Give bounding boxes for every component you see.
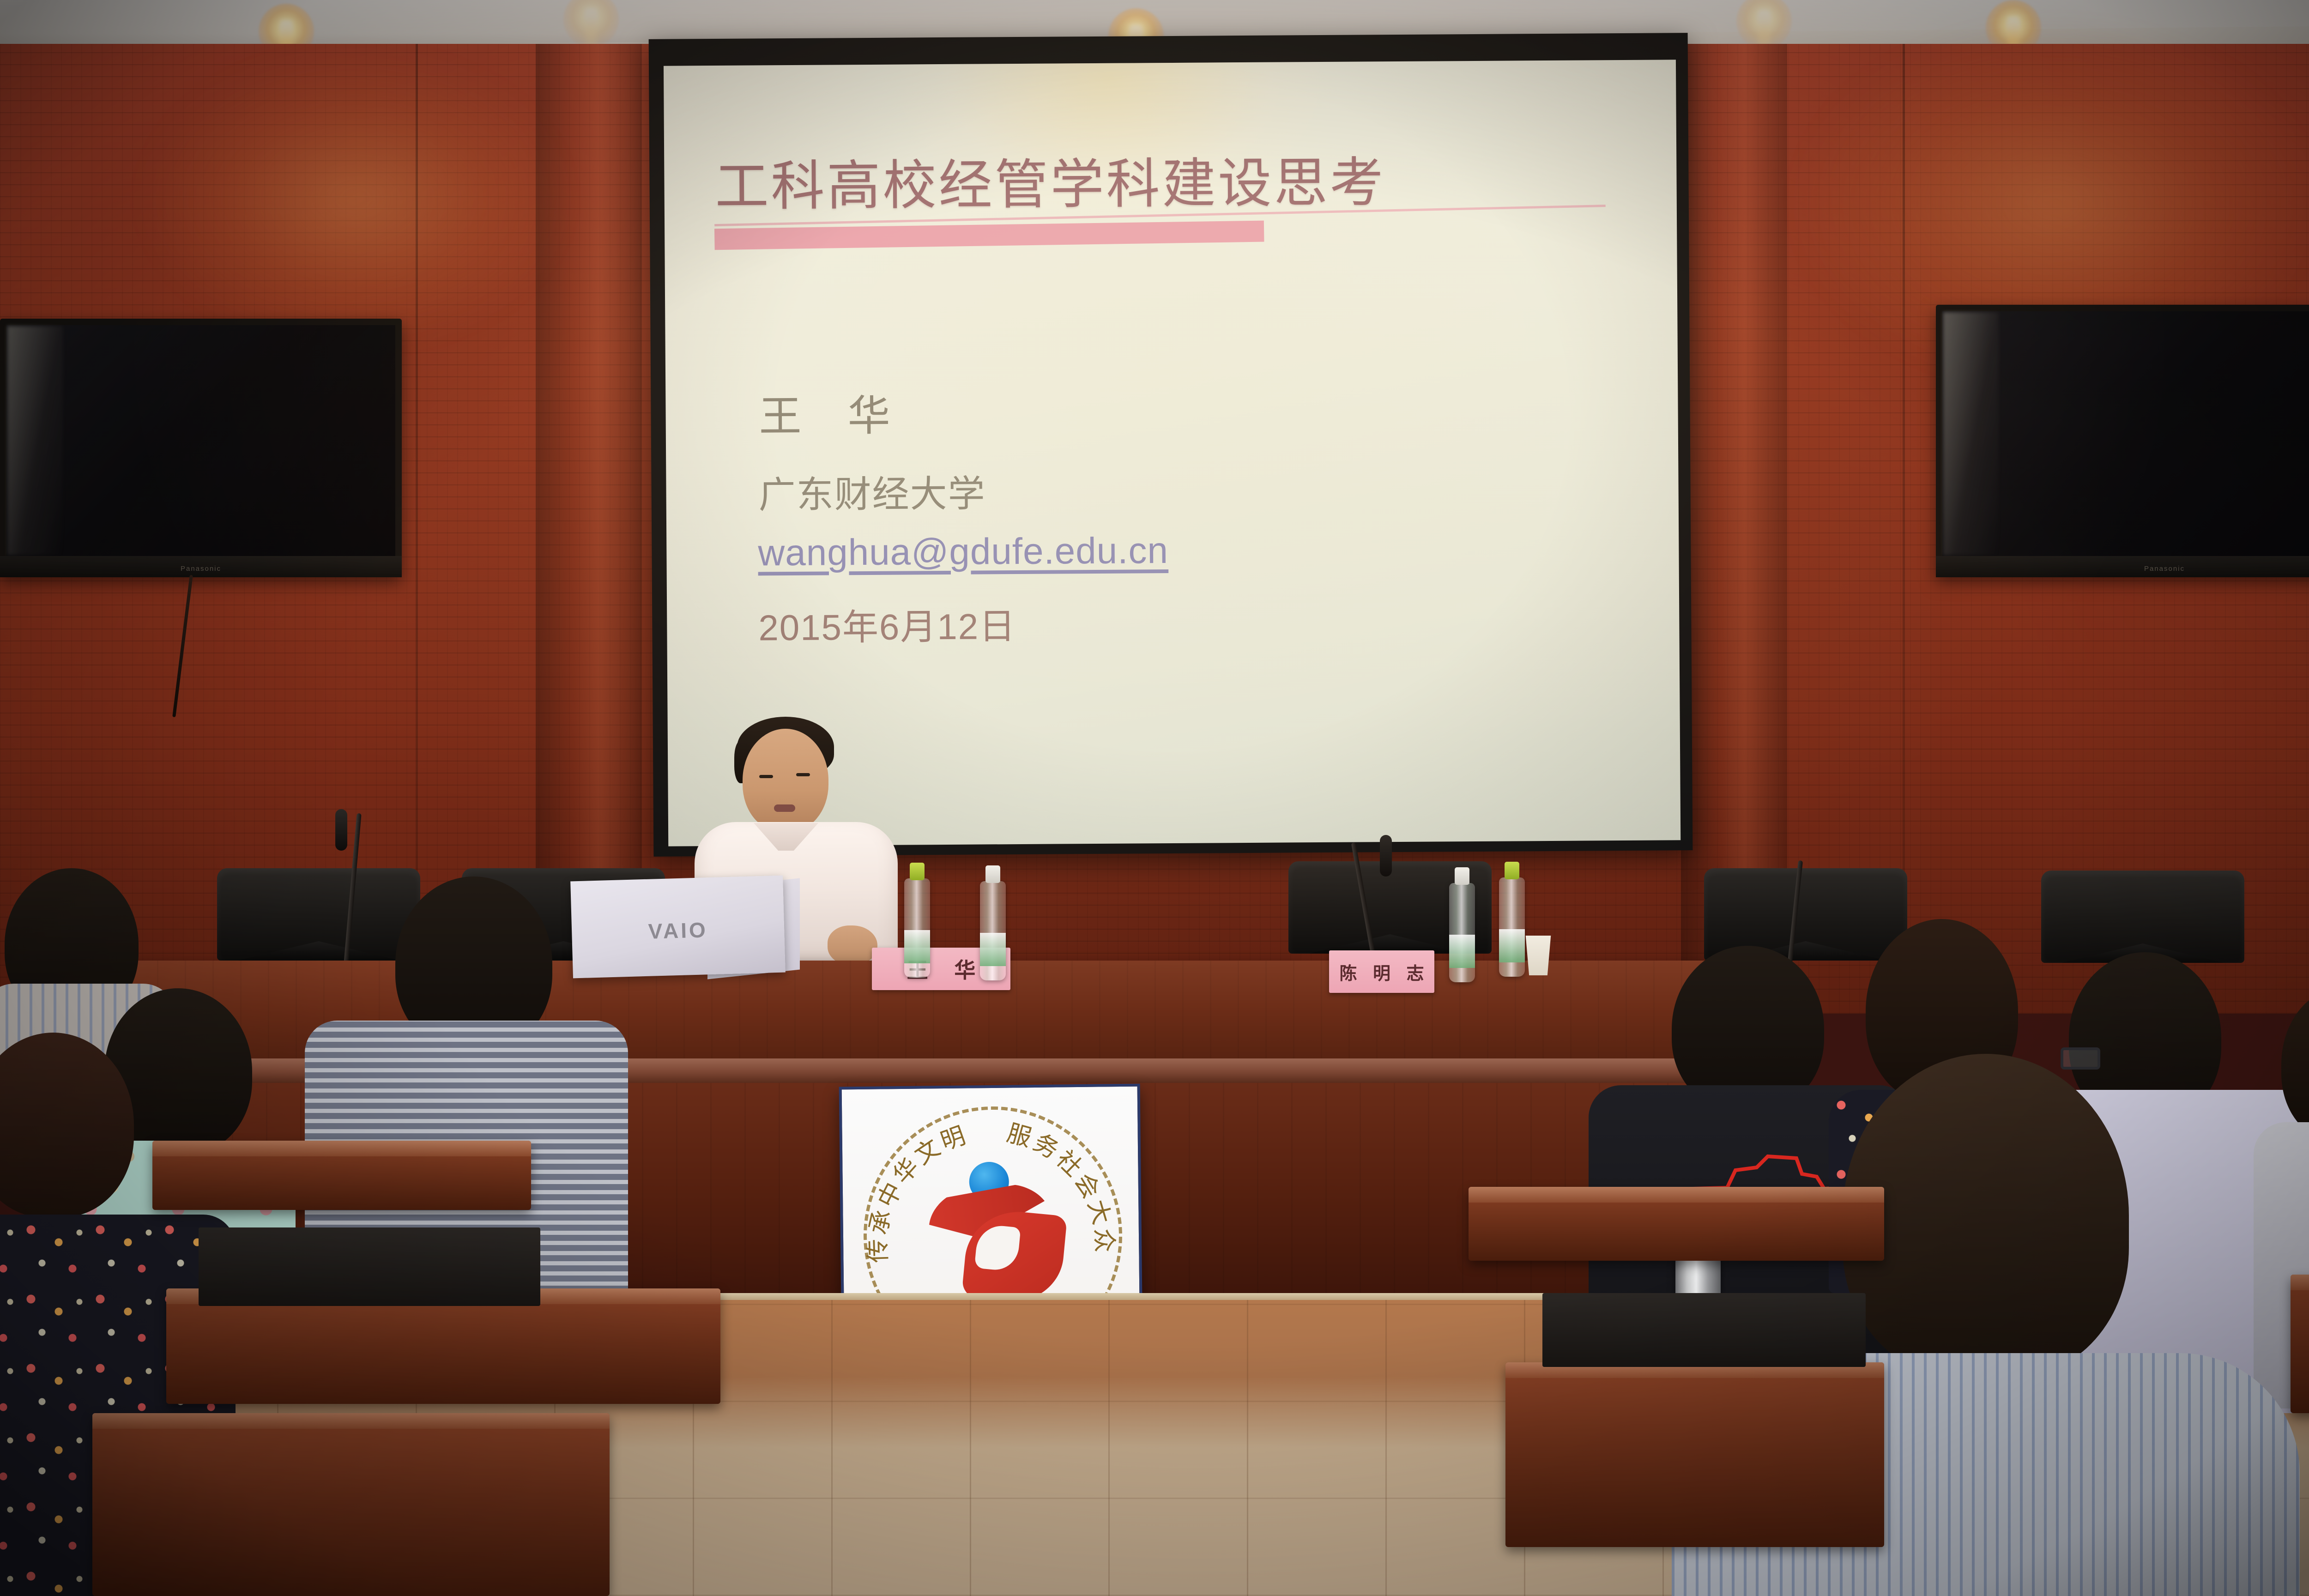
- slide-affiliation: 广东财经大学: [758, 464, 986, 519]
- wall-light-glow: [148, 55, 563, 342]
- audience-head-foreground: [1843, 1054, 2129, 1377]
- water-bottle: [980, 881, 1006, 980]
- display-panel: [6, 325, 395, 556]
- presider-chair: [2041, 871, 2244, 963]
- bottle-cap: [1505, 862, 1519, 879]
- desk-top: [2291, 1275, 2309, 1290]
- display-glare: [7, 326, 63, 555]
- slide-speaker-name: 王 华: [759, 381, 892, 444]
- bottle-cap: [1455, 867, 1469, 885]
- display-brand-label: Panasonic: [181, 565, 221, 573]
- wall-display-right: Panasonic: [1936, 305, 2309, 577]
- bottle-label: [904, 930, 930, 963]
- forum-emblem: [920, 1156, 1064, 1296]
- bottle-label: [1499, 929, 1525, 962]
- display-glare: [1943, 312, 1999, 555]
- microphone-capsule: [1380, 835, 1392, 877]
- water-bottle: [904, 878, 930, 978]
- audience-desk: [2291, 1275, 2309, 1413]
- speaker-head: [743, 729, 828, 832]
- desk-top: [152, 1141, 531, 1156]
- speaker-eye-left: [759, 775, 773, 778]
- water-bottle: [1499, 877, 1525, 977]
- bottle-cap: [910, 863, 925, 880]
- eyeglasses: [2061, 1047, 2100, 1070]
- display-bezel-bottom: Panasonic: [0, 556, 402, 577]
- slide-date: 2015年6月12日: [758, 598, 1016, 651]
- audience-seat: [1542, 1293, 1866, 1367]
- speaker-mouth: [774, 804, 795, 812]
- speaker-gesturing-hand: [828, 925, 877, 965]
- slide-email-link: wanghua@gdufe.edu.cn: [758, 529, 1168, 574]
- display-bezel-bottom: Panasonic: [1936, 556, 2309, 577]
- desk-top: [1469, 1187, 1884, 1203]
- nameplate-presider: 陈 明 志: [1329, 950, 1434, 993]
- audience-seat: [199, 1227, 540, 1306]
- laptop-brand-logo: VAIO: [648, 918, 708, 944]
- wall-seam: [416, 44, 418, 1014]
- wall-display-left: Panasonic: [0, 319, 402, 577]
- speaker-eye-right: [796, 773, 810, 776]
- wall-seam: [1903, 44, 1905, 1014]
- audience-desk: [1469, 1187, 1884, 1261]
- water-bottle: [1449, 883, 1475, 982]
- microphone-capsule: [335, 809, 347, 851]
- bottle-label: [980, 933, 1006, 966]
- audience-desk: [1505, 1362, 1884, 1547]
- display-brand-label: Panasonic: [2144, 565, 2185, 573]
- slide-title: 工科高校经管学科建设思考: [715, 139, 1386, 221]
- audience-desk: [92, 1413, 610, 1596]
- bottle-cap: [985, 865, 1000, 883]
- bottle-label: [1449, 935, 1475, 968]
- audience-desk: [152, 1141, 531, 1210]
- lecture-hall-photo: Panasonic Panasonic 工科高校经管学科建设思考 王 华 广东财…: [0, 0, 2309, 1596]
- presider-chair: [217, 868, 420, 961]
- laptop-lid[interactable]: VAIO: [570, 876, 786, 979]
- desk-top: [92, 1413, 610, 1429]
- slide-title-accent-bar: [714, 221, 1264, 250]
